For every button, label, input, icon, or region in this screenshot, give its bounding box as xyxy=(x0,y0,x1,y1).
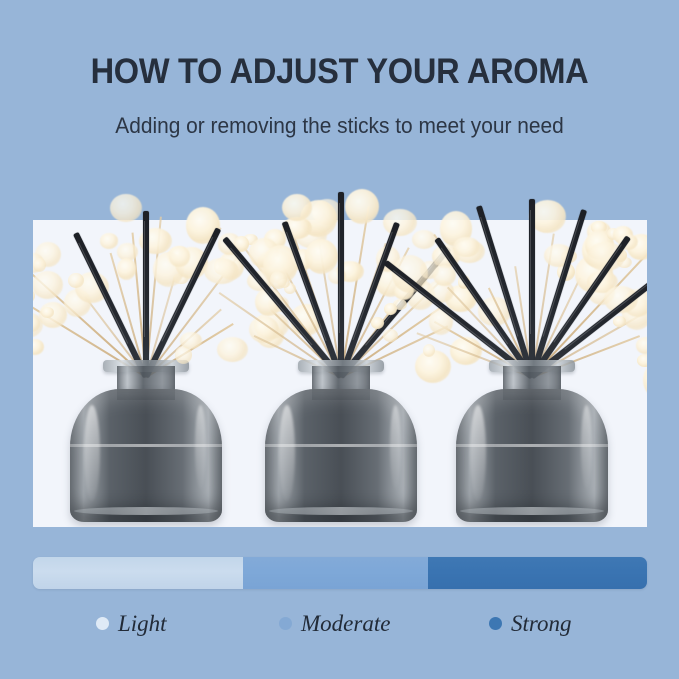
reed-stick xyxy=(529,199,535,377)
bottle-base-ring xyxy=(74,507,218,515)
dried-flower-cluster xyxy=(637,354,647,366)
legend: Light Moderate Strong xyxy=(33,612,647,642)
glass-highlight-left xyxy=(279,405,295,501)
dried-flower-cluster xyxy=(217,337,248,362)
bottle-body xyxy=(456,389,608,522)
dried-flower-cluster xyxy=(305,239,338,274)
legend-label-strong: Strong xyxy=(511,612,572,635)
bottle-light xyxy=(70,354,222,522)
dried-flower-cluster xyxy=(412,230,437,249)
dried-flower-cluster xyxy=(41,307,54,317)
legend-label-moderate: Moderate xyxy=(301,612,390,635)
dried-flower-cluster xyxy=(384,303,397,315)
legend-dot-icon-light xyxy=(96,617,109,630)
intensity-bar xyxy=(33,557,647,589)
dried-flower-cluster xyxy=(169,246,190,267)
glass-highlight-right xyxy=(390,405,401,489)
glass-highlight-right xyxy=(581,405,592,489)
bottle-base-ring xyxy=(460,507,604,515)
dried-flower-cluster xyxy=(100,233,119,248)
legend-dot-icon-moderate xyxy=(279,617,292,630)
bottle-body xyxy=(70,389,222,522)
page-subtitle: Adding or removing the sticks to meet yo… xyxy=(17,113,662,139)
reed-stick xyxy=(338,192,344,377)
dried-flower-cluster xyxy=(175,346,193,364)
intensity-segment-strong xyxy=(428,557,647,589)
product-photo xyxy=(33,160,647,527)
legend-item-strong: Strong xyxy=(489,612,572,635)
bottle-base-ring xyxy=(269,507,413,515)
legend-label-light: Light xyxy=(118,612,167,635)
legend-dot-icon-strong xyxy=(489,617,502,630)
page-title: HOW TO ADJUST YOUR AROMA xyxy=(24,52,655,92)
dried-flower-cluster xyxy=(453,237,480,258)
bottle-body xyxy=(265,389,417,522)
dried-flower-cluster xyxy=(613,316,627,327)
dried-flower-cluster xyxy=(636,337,647,353)
dried-flower-cluster xyxy=(110,194,142,222)
dried-flower-cluster xyxy=(383,209,417,236)
diffuser-strong xyxy=(437,160,627,527)
dried-flower-cluster xyxy=(345,189,380,225)
infographic-canvas: HOW TO ADJUST YOUR AROMA Adding or remov… xyxy=(0,0,679,679)
bouquet-strong xyxy=(437,162,627,377)
glass-highlight-left xyxy=(470,405,486,501)
intensity-segment-light xyxy=(33,557,243,589)
bottle-moderate xyxy=(265,354,417,522)
diffuser-moderate xyxy=(246,160,436,527)
dried-flower-cluster xyxy=(383,329,398,342)
legend-item-light: Light xyxy=(96,612,167,635)
diffuser-light xyxy=(51,160,241,527)
dried-flower-cluster xyxy=(33,258,46,271)
intensity-segment-moderate xyxy=(243,557,428,589)
legend-item-moderate: Moderate xyxy=(279,612,390,635)
dried-flower-cluster xyxy=(371,317,383,329)
bottle-strong xyxy=(456,354,608,522)
dried-flower-cluster xyxy=(117,258,136,279)
reed-stick xyxy=(143,211,149,377)
dried-flower-cluster xyxy=(180,332,202,348)
dried-flower-cluster xyxy=(33,271,63,299)
glass-highlight-right xyxy=(195,405,206,489)
glass-highlight-left xyxy=(84,405,100,501)
